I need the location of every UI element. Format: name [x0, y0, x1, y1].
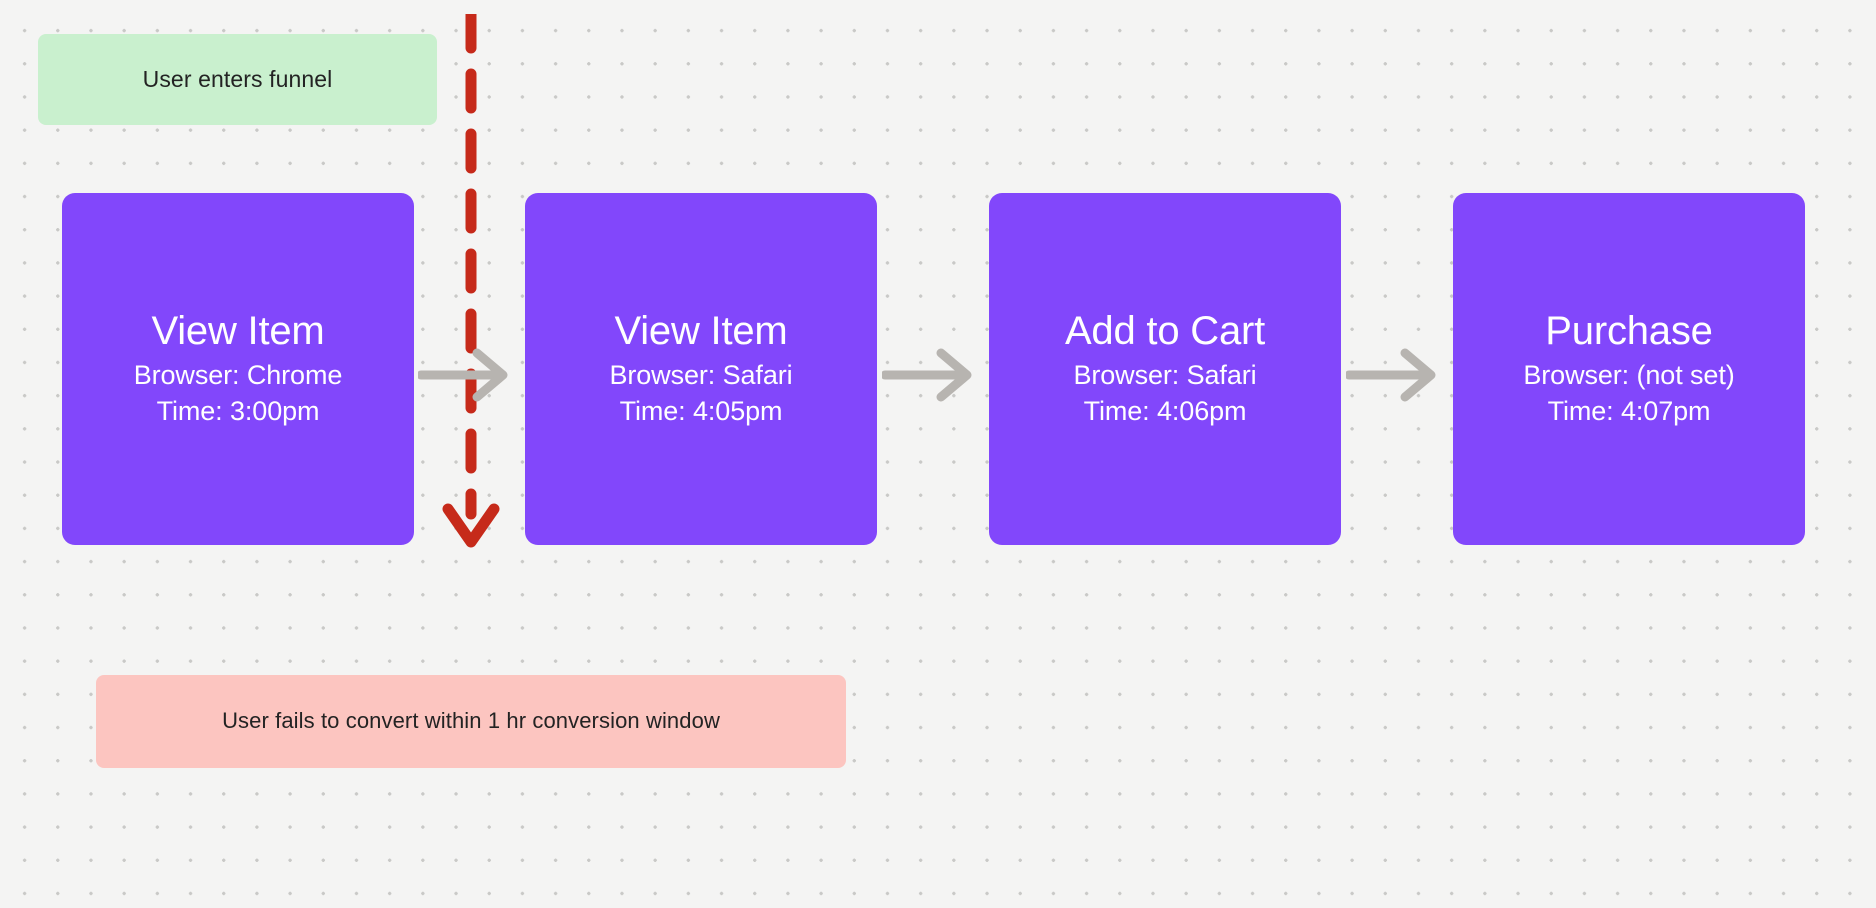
arrow-right-icon	[418, 345, 510, 405]
step-title: Purchase	[1545, 309, 1712, 354]
step-browser: Browser: Safari	[609, 357, 792, 393]
step-browser: Browser: Safari	[1073, 357, 1256, 393]
entry-annotation-box: User enters funnel	[38, 34, 437, 125]
step-browser: Browser: Chrome	[134, 357, 343, 393]
arrow-right-icon	[882, 345, 974, 405]
funnel-step-card[interactable]: Add to Cart Browser: Safari Time: 4:06pm	[989, 193, 1341, 545]
failure-annotation-box: User fails to convert within 1 hr conver…	[96, 675, 846, 768]
step-connector-arrow	[418, 345, 510, 405]
funnel-step-card[interactable]: View Item Browser: Safari Time: 4:05pm	[525, 193, 877, 545]
step-time: Time: 4:07pm	[1548, 393, 1711, 429]
step-time: Time: 4:05pm	[620, 393, 783, 429]
step-browser: Browser: (not set)	[1523, 357, 1734, 393]
step-time: Time: 3:00pm	[157, 393, 320, 429]
step-time: Time: 4:06pm	[1084, 393, 1247, 429]
step-connector-arrow	[1346, 345, 1438, 405]
entry-annotation-label: User enters funnel	[143, 66, 333, 94]
funnel-step-card[interactable]: Purchase Browser: (not set) Time: 4:07pm	[1453, 193, 1805, 545]
funnel-step-card[interactable]: View Item Browser: Chrome Time: 3:00pm	[62, 193, 414, 545]
step-title: View Item	[151, 309, 324, 354]
step-connector-arrow	[882, 345, 974, 405]
funnel-diagram-canvas: User enters funnel User fails to convert…	[0, 0, 1876, 908]
failure-annotation-label: User fails to convert within 1 hr conver…	[222, 708, 720, 734]
step-title: View Item	[614, 309, 787, 354]
arrow-right-icon	[1346, 345, 1438, 405]
step-title: Add to Cart	[1065, 309, 1265, 354]
